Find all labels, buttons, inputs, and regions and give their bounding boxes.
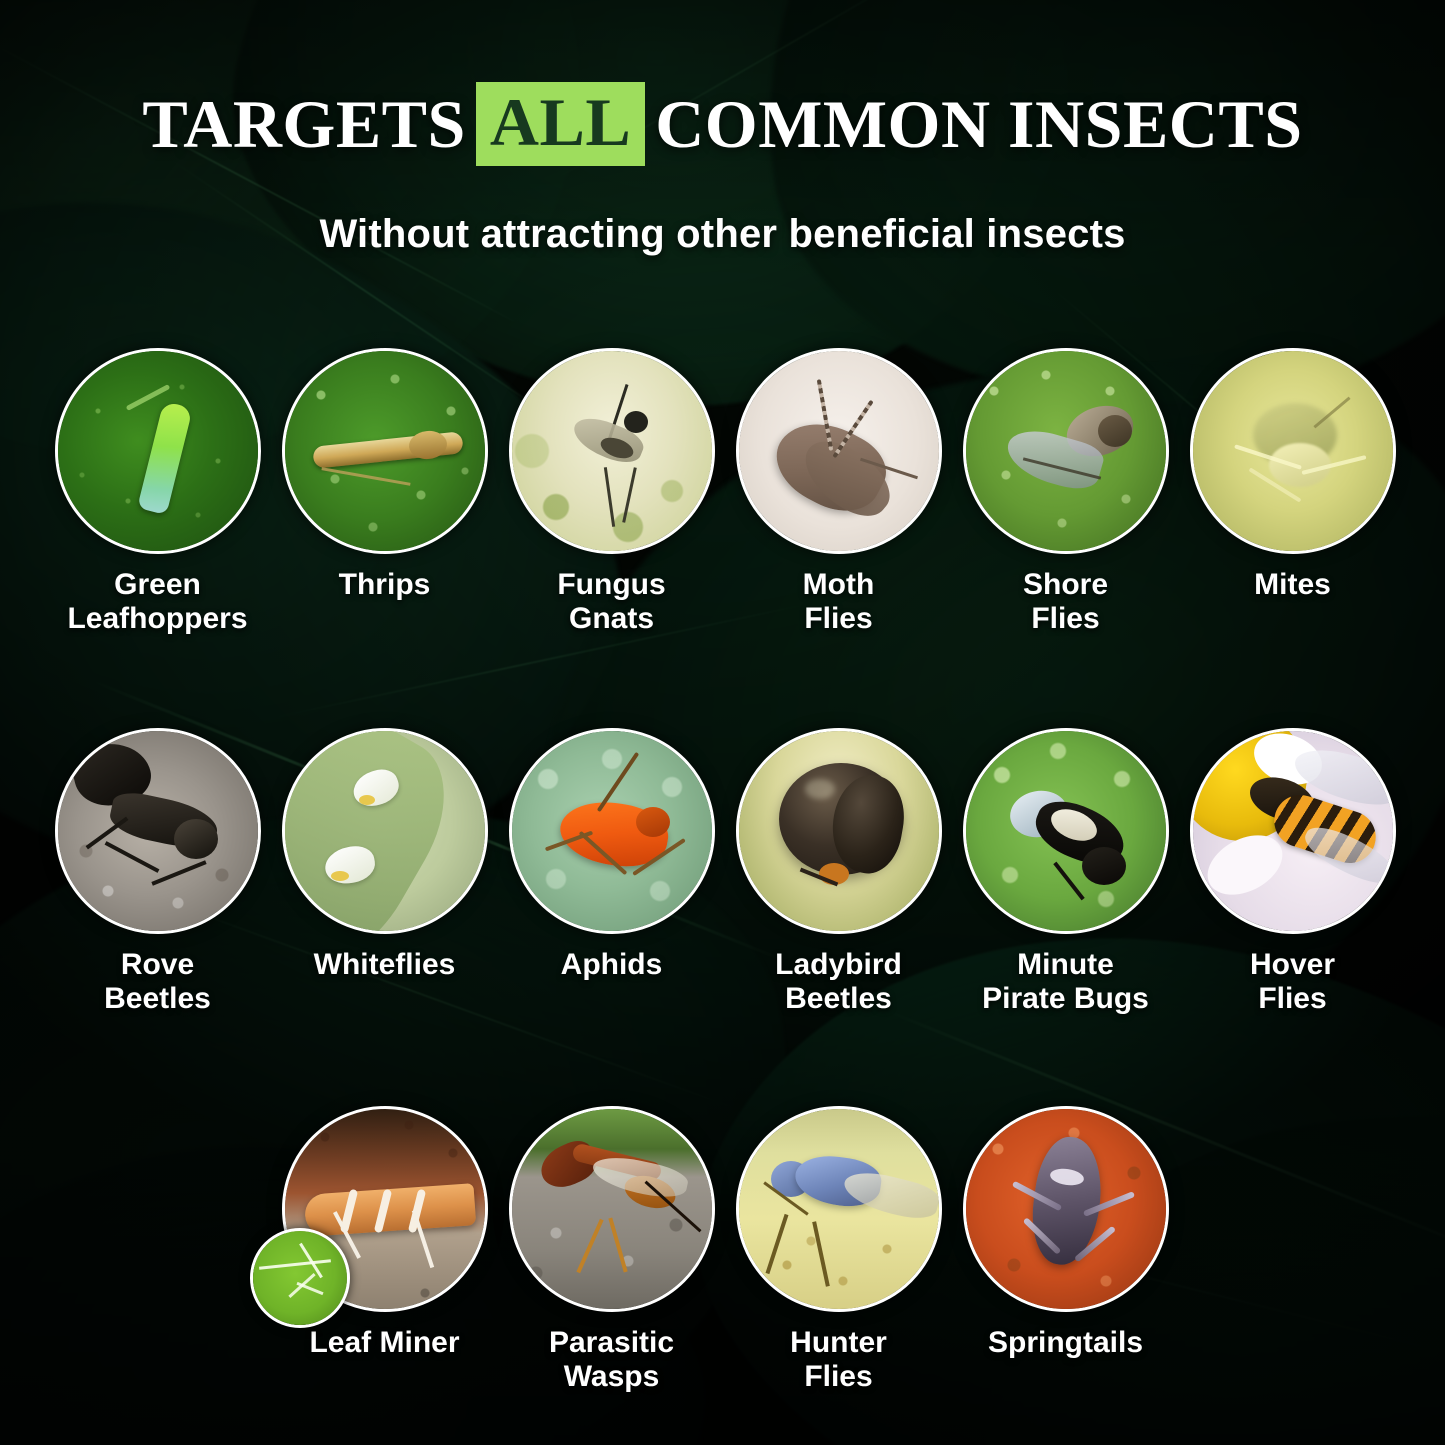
insect-card-fungus-gnats[interactable]: Fungus Gnats xyxy=(489,348,734,635)
insect-label: Mites xyxy=(1170,568,1415,602)
insect-card-aphids[interactable]: Aphids xyxy=(489,728,734,982)
insect-card-minute-pirate-bugs[interactable]: Minute Pirate Bugs xyxy=(943,728,1188,1015)
insect-label: Shore Flies xyxy=(943,568,1188,635)
insect-label: Springtails xyxy=(943,1326,1188,1360)
shore-fly-photo xyxy=(963,348,1169,554)
hover-fly-photo xyxy=(1190,728,1396,934)
leaf-miner-damage-inset xyxy=(250,1228,350,1328)
insect-label: Whiteflies xyxy=(262,948,507,982)
insect-card-green-leafhoppers[interactable]: Green Leafhoppers xyxy=(35,348,280,635)
mite-photo xyxy=(1190,348,1396,554)
insect-label: Hover Flies xyxy=(1170,948,1415,1015)
whitefly-photo xyxy=(282,728,488,934)
insect-card-moth-flies[interactable]: Moth Flies xyxy=(716,348,961,635)
insect-card-leaf-miner[interactable]: Leaf Miner xyxy=(262,1106,507,1360)
insect-label: Fungus Gnats xyxy=(489,568,734,635)
insect-card-shore-flies[interactable]: Shore Flies xyxy=(943,348,1188,635)
insect-card-hunter-flies[interactable]: Hunter Flies xyxy=(716,1106,961,1393)
insect-label: Rove Beetles xyxy=(35,948,280,1015)
aphid-photo xyxy=(509,728,715,934)
insect-label: Leaf Miner xyxy=(262,1326,507,1360)
page-subtitle: Without attracting other beneficial inse… xyxy=(0,212,1445,257)
title-part-post: COMMON INSECTS xyxy=(655,90,1302,158)
insect-card-parasitic-wasps[interactable]: Parasitic Wasps xyxy=(489,1106,734,1393)
insect-label: Ladybird Beetles xyxy=(716,948,961,1015)
hunter-fly-photo xyxy=(736,1106,942,1312)
page-title: TARGETSALLCOMMON INSECTS xyxy=(0,82,1445,166)
ladybird-beetle-photo xyxy=(736,728,942,934)
springtail-photo xyxy=(963,1106,1169,1312)
title-highlight-all: ALL xyxy=(476,82,645,166)
insect-label: Hunter Flies xyxy=(716,1326,961,1393)
thrips-photo xyxy=(282,348,488,554)
insect-card-whiteflies[interactable]: Whiteflies xyxy=(262,728,507,982)
insect-label: Thrips xyxy=(262,568,507,602)
insect-label: Minute Pirate Bugs xyxy=(943,948,1188,1015)
insect-card-rove-beetles[interactable]: Rove Beetles xyxy=(35,728,280,1015)
insect-label: Moth Flies xyxy=(716,568,961,635)
parasitic-wasp-photo xyxy=(509,1106,715,1312)
minute-pirate-bug-photo xyxy=(963,728,1169,934)
insect-card-mites[interactable]: Mites xyxy=(1170,348,1415,602)
insect-card-springtails[interactable]: Springtails xyxy=(943,1106,1188,1360)
rove-beetle-photo xyxy=(55,728,261,934)
insect-label: Aphids xyxy=(489,948,734,982)
green-leafhopper-photo xyxy=(55,348,261,554)
fungus-gnat-photo xyxy=(509,348,715,554)
insect-card-hover-flies[interactable]: Hover Flies xyxy=(1170,728,1415,1015)
moth-fly-photo xyxy=(736,348,942,554)
insect-label: Green Leafhoppers xyxy=(35,568,280,635)
insect-card-ladybird-beetles[interactable]: Ladybird Beetles xyxy=(716,728,961,1015)
title-part-pre: TARGETS xyxy=(142,90,465,158)
insect-label: Parasitic Wasps xyxy=(489,1326,734,1393)
insect-card-thrips[interactable]: Thrips xyxy=(262,348,507,602)
